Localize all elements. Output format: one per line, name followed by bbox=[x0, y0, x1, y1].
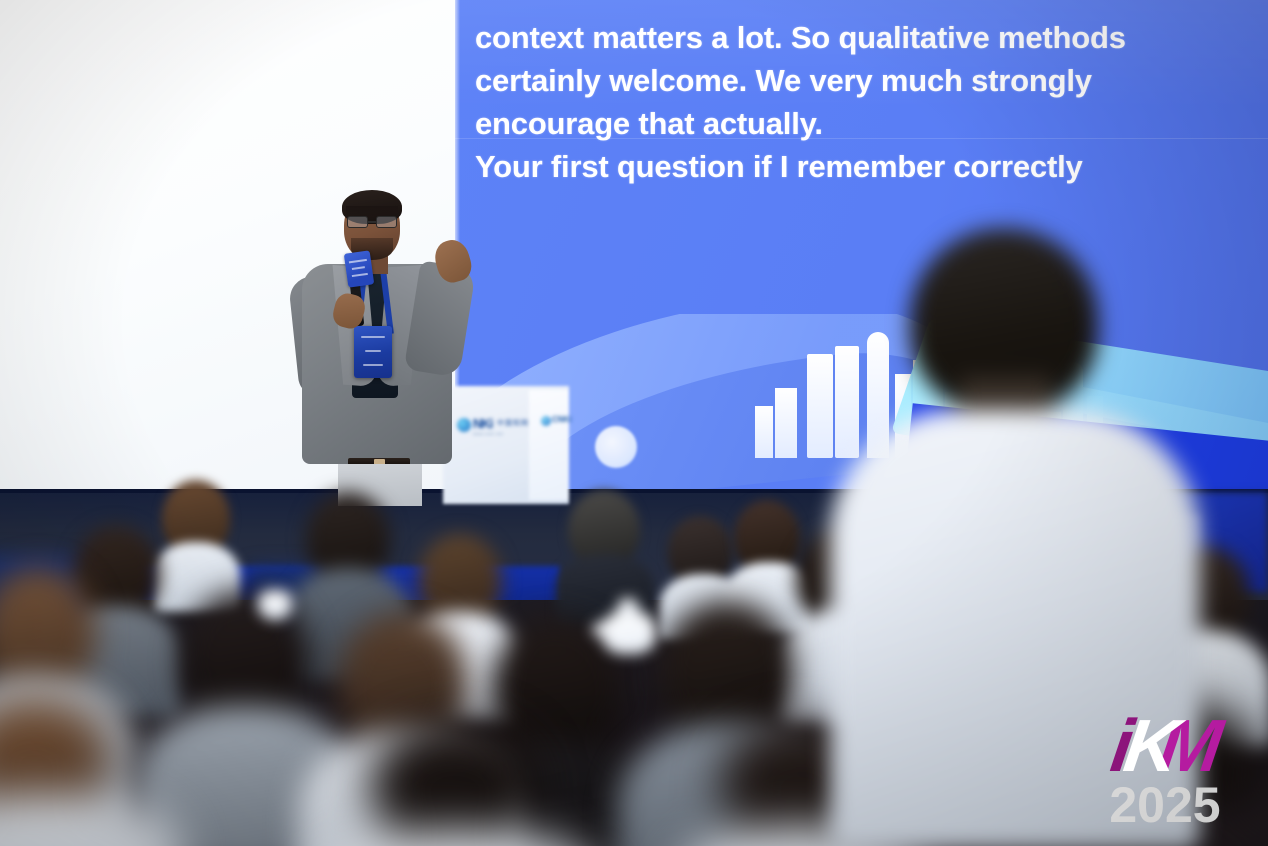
cnki-secondary-mark: CNKi bbox=[552, 415, 572, 424]
sun-circle bbox=[595, 426, 637, 468]
cnki-chinese-text: 中国知网 bbox=[497, 418, 529, 428]
logo-wordmark: iKM bbox=[1080, 708, 1250, 784]
teapot bbox=[596, 596, 668, 658]
microphone-flag bbox=[344, 250, 374, 287]
cnki-secondary-icon bbox=[541, 416, 551, 426]
logo-year: 2025 bbox=[1080, 780, 1250, 830]
caption-line-2: certainly welcome. We very much strongly bbox=[475, 59, 1175, 102]
speaker-badge bbox=[354, 326, 392, 378]
speaker-glasses bbox=[346, 216, 398, 229]
caption-line-3: encourage that actually. bbox=[475, 102, 1175, 145]
event-logo: iKM 2025 bbox=[1080, 708, 1250, 832]
presentation-photo: context matters a lot. So qualitative me… bbox=[0, 0, 1268, 846]
speaker-person bbox=[296, 186, 486, 506]
slide-caption: context matters a lot. So qualitative me… bbox=[475, 16, 1175, 188]
audience-member bbox=[0, 698, 160, 846]
teacup bbox=[258, 590, 292, 620]
cnki-secondary-logo: CNKi bbox=[541, 414, 565, 436]
caption-line-1: context matters a lot. So qualitative me… bbox=[475, 16, 1175, 59]
audience-member bbox=[330, 720, 590, 846]
caption-line-4: Your first question if I remember correc… bbox=[475, 145, 1175, 188]
audience-member bbox=[560, 490, 650, 610]
